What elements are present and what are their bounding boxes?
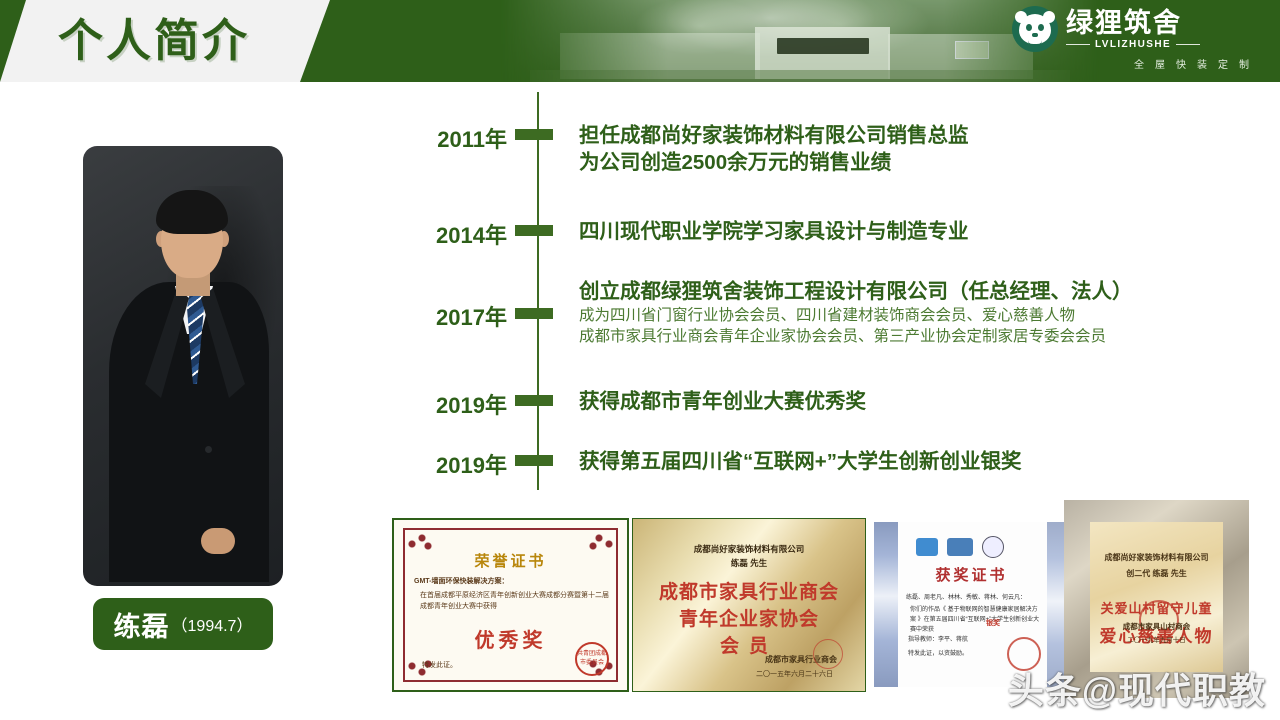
raccoon-mouth-icon — [1028, 38, 1042, 47]
certificate-award-line1: 练磊、周老凡、林林、秀敏、蒋林、何云凡： — [906, 592, 1026, 601]
logo-rule-right — [1176, 44, 1200, 45]
university-logo-icon — [982, 536, 1004, 558]
certificate-award-line4: 特发此证，以资鼓励。 — [908, 648, 968, 657]
charity-date: 二〇一九年九月十日 — [1090, 634, 1223, 644]
header-image-picture-frame — [955, 41, 989, 59]
certificate-corner-ornament — [406, 532, 432, 550]
plaque-title1: 成都市家具行业商会 — [633, 577, 865, 604]
timeline-content: 四川现代职业学院学习家具设计与制造专业 — [557, 218, 1255, 245]
certificate-honor-line1: GMT-墙面环保快装解决方案： — [414, 576, 509, 586]
timeline-line: 获得第五届四川省“互联网+”大学生创新创业银奖 — [579, 448, 1255, 475]
profile-name: 练磊 — [114, 605, 170, 644]
raccoon-nose-icon — [1032, 33, 1038, 37]
charity-plaque-plate: 成都尚好家装饰材料有限公司 创二代 练磊 先生 关爱山村留守儿童 爱心慈善人物 … — [1090, 522, 1223, 672]
certificate-honor-note: 特发此证。 — [422, 660, 457, 670]
header-bar: 个人简介 绿狸筑舍 LVLIZHUSHE — [0, 0, 1280, 82]
certificate-honor: 荣誉证书 GMT-墙面环保快装解决方案： 在首届成都平原经济区青年创新创业大赛成… — [392, 518, 629, 692]
certificate-award-medal: 银奖 — [986, 618, 1000, 628]
brand-name-cn: 绿狸筑舍 — [1066, 9, 1200, 38]
charity-line2: 创二代 练磊 先生 — [1090, 568, 1223, 579]
timeline-item-2019-a: 2019年 获得成都市青年创业大赛优秀奖 — [395, 388, 1255, 420]
certificate-honor-seal: 共青团成都市委员会 — [575, 642, 609, 676]
plaque-date: 二〇一五年六月二十六日 — [756, 669, 833, 679]
timeline-content: 获得成都市青年创业大赛优秀奖 — [557, 388, 1255, 415]
timeline-marker-icon — [511, 278, 557, 319]
portrait-suit-button — [205, 446, 212, 453]
timeline-marker-icon — [511, 218, 557, 236]
page-title: 个人简介 — [58, 8, 308, 74]
portrait-hands — [201, 528, 235, 554]
brand-slogan: 全屋快装定制 — [1012, 56, 1262, 71]
header-image-screen — [777, 38, 869, 54]
timeline-marker-icon — [511, 448, 557, 466]
timeline-subline: 成都市家具行业商会青年企业家协会会员、第三产业协会定制家居专委会会员 — [579, 326, 1255, 347]
certificate-honor-title: 荣誉证书 — [394, 550, 627, 571]
bank-logo-icon — [947, 538, 973, 556]
timeline-year: 2019年 — [395, 448, 511, 480]
raccoon-logo-icon — [1012, 6, 1058, 52]
timeline-content: 创立成都绿狸筑舍装饰工程设计有限公司（任总经理、法人） 成为四川省门窗行业协会会… — [557, 278, 1255, 347]
timeline-item-2019-b: 2019年 获得第五届四川省“互联网+”大学生创新创业银奖 — [395, 448, 1255, 480]
header-image-floor — [530, 70, 1070, 82]
plaque-line1: 成都尚好家装饰材料有限公司 — [633, 543, 865, 555]
header-background-image — [500, 0, 1100, 82]
timeline-year: 2019年 — [395, 388, 511, 420]
timeline-year: 2014年 — [395, 218, 511, 250]
logo-rule-left — [1066, 44, 1090, 45]
timeline-content: 获得第五届四川省“互联网+”大学生创新创业银奖 — [557, 448, 1255, 475]
certificate-award-line2: 你们的作品《 基于物联网的智慧健康家居解决方案 》在第五届四川省“互联网+”大学… — [910, 605, 1043, 635]
certificate-award-border-left — [874, 522, 898, 687]
timeline-year: 2011年 — [395, 122, 511, 154]
slide-root: 个人简介 绿狸筑舍 LVLIZHUSHE — [0, 0, 1280, 720]
name-badge: 练磊 （1994.7） — [93, 598, 273, 650]
timeline-line: 获得成都市青年创业大赛优秀奖 — [579, 388, 1255, 415]
brand-logo: 绿狸筑舍 LVLIZHUSHE 全屋快装定制 — [1012, 6, 1262, 74]
sponsor-logo-icon — [916, 538, 938, 556]
certificate-plaque-association: 成都尚好家装饰材料有限公司 练磊 先生 成都市家具行业商会 青年企业家协会 会员… — [632, 518, 866, 692]
charity-org: 成都市家具山村商会 — [1090, 621, 1223, 632]
timeline-marker-icon — [511, 388, 557, 406]
timeline-line: 为公司创造2500余万元的销售业绩 — [579, 149, 1255, 176]
timeline-item-2017: 2017年 创立成都绿狸筑舍装饰工程设计有限公司（任总经理、法人） 成为四川省门… — [395, 278, 1255, 347]
profile-birth: （1994.7） — [172, 612, 253, 636]
plaque-line2: 练磊 先生 — [633, 557, 865, 569]
timeline-content: 担任成都尚好家装饰材料有限公司销售总监 为公司创造2500余万元的销售业绩 — [557, 122, 1255, 176]
certificate-corner-ornament — [589, 532, 615, 550]
timeline-year: 2017年 — [395, 278, 511, 332]
certificate-award-line3: 指导教师：李平、蒋航 — [908, 634, 968, 643]
timeline-marker-icon — [511, 122, 557, 140]
timeline-subline: 成为四川省门窗行业协会会员、四川省建材装饰商会会员、爱心慈善人物 — [579, 305, 1255, 326]
certificate-honor-line2: 在首届成都平原经济区青年创新创业大赛成都分赛暨第十二届成都青年创业大赛中获得 — [420, 590, 613, 612]
raccoon-eye-right-icon — [1038, 24, 1044, 31]
certificate-award-title: 获奖证书 — [874, 564, 1069, 585]
timeline-item-2014: 2014年 四川现代职业学院学习家具设计与制造专业 — [395, 218, 1255, 250]
timeline-line: 四川现代职业学院学习家具设计与制造专业 — [579, 218, 1255, 245]
timeline: 2011年 担任成都尚好家装饰材料有限公司销售总监 为公司创造2500余万元的销… — [395, 110, 1255, 500]
portrait-photo — [83, 146, 283, 586]
raccoon-eye-left-icon — [1026, 24, 1032, 31]
plaque-title2: 青年企业家协会 — [633, 604, 865, 631]
certificate-award-logos — [916, 536, 1004, 558]
brand-name-en: LVLIZHUSHE — [1095, 39, 1171, 50]
watermark: 头条@现代职教 — [1008, 662, 1266, 714]
timeline-line: 创立成都绿狸筑舍装饰工程设计有限公司（任总经理、法人） — [579, 278, 1255, 305]
charity-line1: 成都尚好家装饰材料有限公司 — [1090, 552, 1223, 563]
plaque-seal — [813, 639, 843, 669]
timeline-line: 担任成都尚好家装饰材料有限公司销售总监 — [579, 122, 1255, 149]
timeline-item-2011: 2011年 担任成都尚好家装饰材料有限公司销售总监 为公司创造2500余万元的销… — [395, 122, 1255, 176]
